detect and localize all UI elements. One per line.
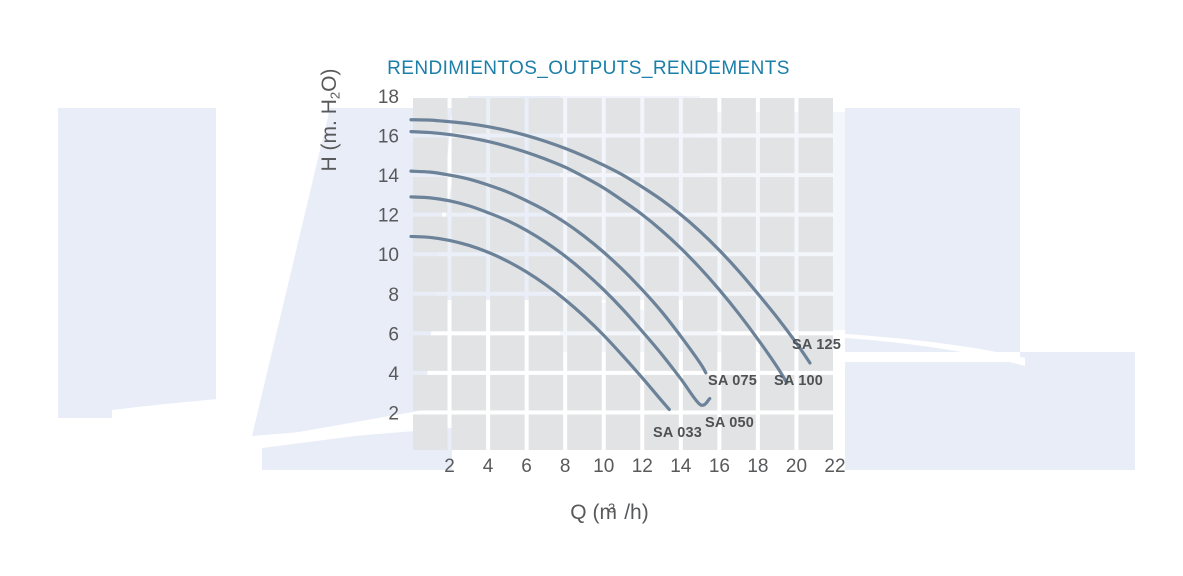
grid-cell [683,296,718,332]
grid-cell [490,296,525,332]
pump-curve-chart: RENDIMIENTOS_OUTPUTS_RENDEMENTS 24681012… [0,0,1183,576]
grid-cell [452,98,487,134]
grid-cells [413,98,833,450]
grid-cell [606,98,641,134]
grid-cell [760,414,795,450]
grid-cell [721,98,756,134]
grid-cell [683,98,718,134]
x-tick-label: 22 [824,456,845,477]
grid-cell [644,375,679,411]
grid-cell [798,256,833,292]
grid-cell [413,177,448,213]
grid-cell [606,256,641,292]
y-axis-label: H (m. H2O) [318,40,342,200]
grid-cell [452,256,487,292]
y-tick-label: 12 [378,206,399,227]
x-tick-label: 18 [747,456,768,477]
grid-cell [529,296,564,332]
grid-cell [644,98,679,134]
grid-cell [567,375,602,411]
grid-cell [683,256,718,292]
grid-cell [683,177,718,213]
grid-cell [760,217,795,253]
grid-cell [644,138,679,174]
grid-cell [490,375,525,411]
x-tick-label: 8 [560,456,571,477]
grid-cell [413,296,448,332]
grid-cell [721,217,756,253]
grid-cell [760,138,795,174]
grid-cell [798,177,833,213]
x-tick-label: 4 [483,456,494,477]
grid-cell [529,375,564,411]
y-tick-label: 18 [378,87,399,108]
grid-cell [413,98,448,134]
grid-cell [760,177,795,213]
y-tick-label: 14 [378,166,400,187]
grid-cell [606,296,641,332]
grid-cell [413,138,448,174]
grid-cell [490,177,525,213]
grid-cell [490,335,525,371]
grid-cell [567,98,602,134]
grid-cell [798,414,833,450]
curve-label-sa-125: SA 125 [792,337,841,353]
grid-cell [760,256,795,292]
x-tick-label: 14 [670,456,692,477]
grid-cell [721,177,756,213]
grid-cell [452,296,487,332]
x-tick-labels: 246810121416182022 [444,456,845,477]
curve-label-sa-075: SA 075 [708,373,757,389]
y-axis-label-sub: 2 [327,92,342,99]
grid-cell [721,138,756,174]
x-tick-label: 20 [786,456,807,477]
x-tick-label: 12 [632,456,653,477]
grid-cell [452,335,487,371]
x-axis-label-suffix: /h) [624,501,649,524]
grid-cell [567,335,602,371]
grid-cell [798,138,833,174]
x-tick-label: 6 [521,456,532,477]
grid-cell [644,256,679,292]
chart-page: RENDIMIENTOS_OUTPUTS_RENDEMENTS 24681012… [0,0,1183,576]
x-axis-label-prefix: Q (m [570,501,617,524]
grid-cell [413,375,448,411]
grid-cell [721,335,756,371]
grid-cell [798,217,833,253]
grid-cell [606,375,641,411]
grid-cell [529,98,564,134]
grid-cell [413,414,448,450]
y-axis-label-suffix: O) [318,69,341,92]
y-tick-label: 8 [388,285,399,306]
x-tick-label: 10 [593,456,614,477]
grid-cell [413,256,448,292]
grid-cell [798,296,833,332]
y-tick-label: 16 [378,127,399,148]
grid-cell [760,98,795,134]
plot-area: 246810121416182022 24681012141618 SA 033… [0,0,1183,576]
y-tick-label: 6 [388,324,399,345]
grid-cell [606,217,641,253]
curve-label-sa-033: SA 033 [653,425,702,441]
x-tick-label: 2 [444,456,455,477]
curve-label-sa-100: SA 100 [774,373,823,389]
y-tick-label: 10 [378,245,399,266]
grid-cell [606,414,641,450]
grid-cell [683,138,718,174]
grid-cell [413,217,448,253]
grid-cell [452,375,487,411]
x-axis-label: Q (m3/h) [0,500,1183,525]
grid-cell [567,414,602,450]
grid-cell [452,414,487,450]
grid-cell [490,414,525,450]
grid-cell [529,335,564,371]
y-axis-label-prefix: H (m. H [318,99,341,171]
curve-label-sa-050: SA 050 [705,415,754,431]
grid-cell [798,98,833,134]
grid-cell [529,414,564,450]
x-tick-label: 16 [709,456,730,477]
grid-cell [529,177,564,213]
grid-cell [413,335,448,371]
grid-cell [452,138,487,174]
y-tick-labels: 24681012141618 [378,87,400,424]
y-tick-label: 4 [388,364,399,385]
y-tick-label: 2 [388,403,399,424]
